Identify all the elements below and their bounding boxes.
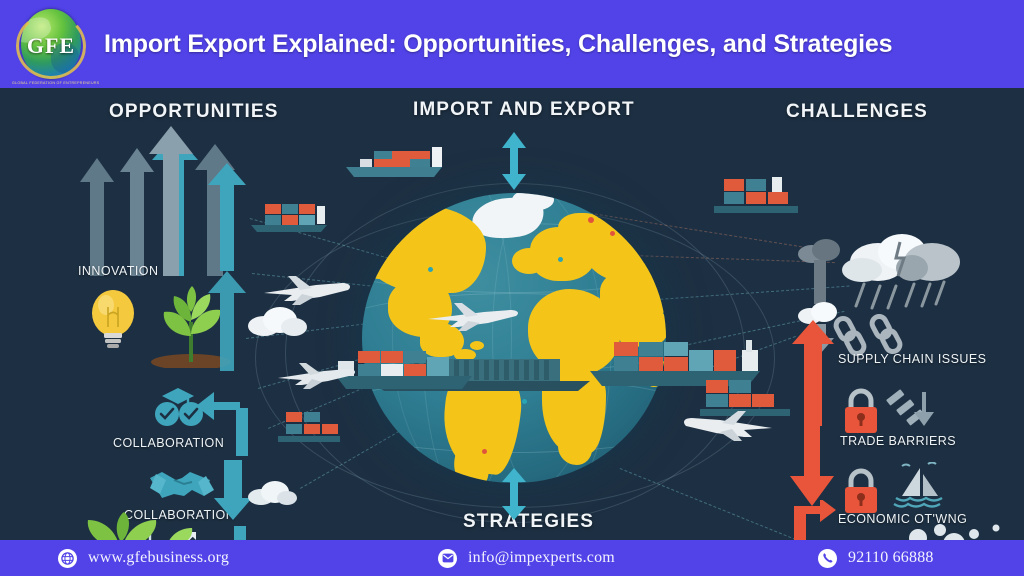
footer-website-text: www.gfebusiness.org (88, 549, 229, 567)
gfe-globe-logo: GFE GLOBAL FEDERATION OF ENTREPRENEURS (12, 5, 90, 83)
section-heading-strategies: STRATEGIES (463, 511, 594, 533)
footer-phone[interactable]: 92110 66888 (818, 549, 934, 568)
footer-email-text: info@impexperts.com (468, 549, 615, 567)
phone-icon (818, 549, 837, 568)
cargo-plane-right (676, 408, 776, 451)
container-ship-mid-left (340, 143, 450, 188)
decorative-bubbles-right (896, 508, 1016, 540)
footer-website[interactable]: www.gfebusiness.org (58, 549, 229, 568)
envelope-icon (438, 549, 457, 568)
globe-icon (58, 549, 77, 568)
section-heading-challenges: CHALLENGES (786, 101, 928, 123)
cloud-icon-bottom (246, 480, 298, 511)
infographic-screen: GFE GLOBAL FEDERATION OF ENTREPRENEURS I… (0, 0, 1024, 576)
declining-bars-arrow-icon (884, 386, 940, 437)
footer-phone-text: 92110 66888 (848, 549, 934, 567)
cargo-plane-icon (424, 299, 524, 338)
double-arrow-bottom-icon (500, 468, 528, 525)
decorative-foliage-left (58, 492, 208, 540)
logo-ring-text: GLOBAL FEDERATION OF ENTREPRENEURS (12, 81, 90, 85)
container-stack-left (274, 406, 344, 461)
section-heading-import-export: IMPORT AND EXPORT (413, 99, 635, 121)
footer-bar: www.gfebusiness.org info@impexperts.com … (0, 540, 1024, 576)
feature-label-innovation: INNOVATION (78, 264, 158, 278)
feature-label-trade-barriers: TRADE BARRIERS (840, 434, 956, 448)
footer-email[interactable]: info@impexperts.com (438, 549, 615, 568)
container-ship-upper-left (247, 198, 337, 239)
page-title: Import Export Explained: Opportunities, … (104, 30, 892, 59)
cargo-plane-left-upper (262, 273, 354, 314)
logo-monogram: GFE (12, 33, 90, 59)
double-arrow-top-icon (500, 132, 528, 195)
header-bar: GFE GLOBAL FEDERATION OF ENTREPRENEURS I… (0, 0, 1024, 88)
storm-cloud-rain-icon (840, 228, 970, 323)
lightbulb-icon (86, 285, 140, 356)
infographic-canvas: OPPORTUNITIES (0, 88, 1024, 540)
cargo-plane-left-lower (276, 360, 358, 397)
feature-label-supply-chain-issues: SUPPLY CHAIN ISSUES (838, 352, 986, 366)
container-stack-right-upper (710, 173, 802, 234)
